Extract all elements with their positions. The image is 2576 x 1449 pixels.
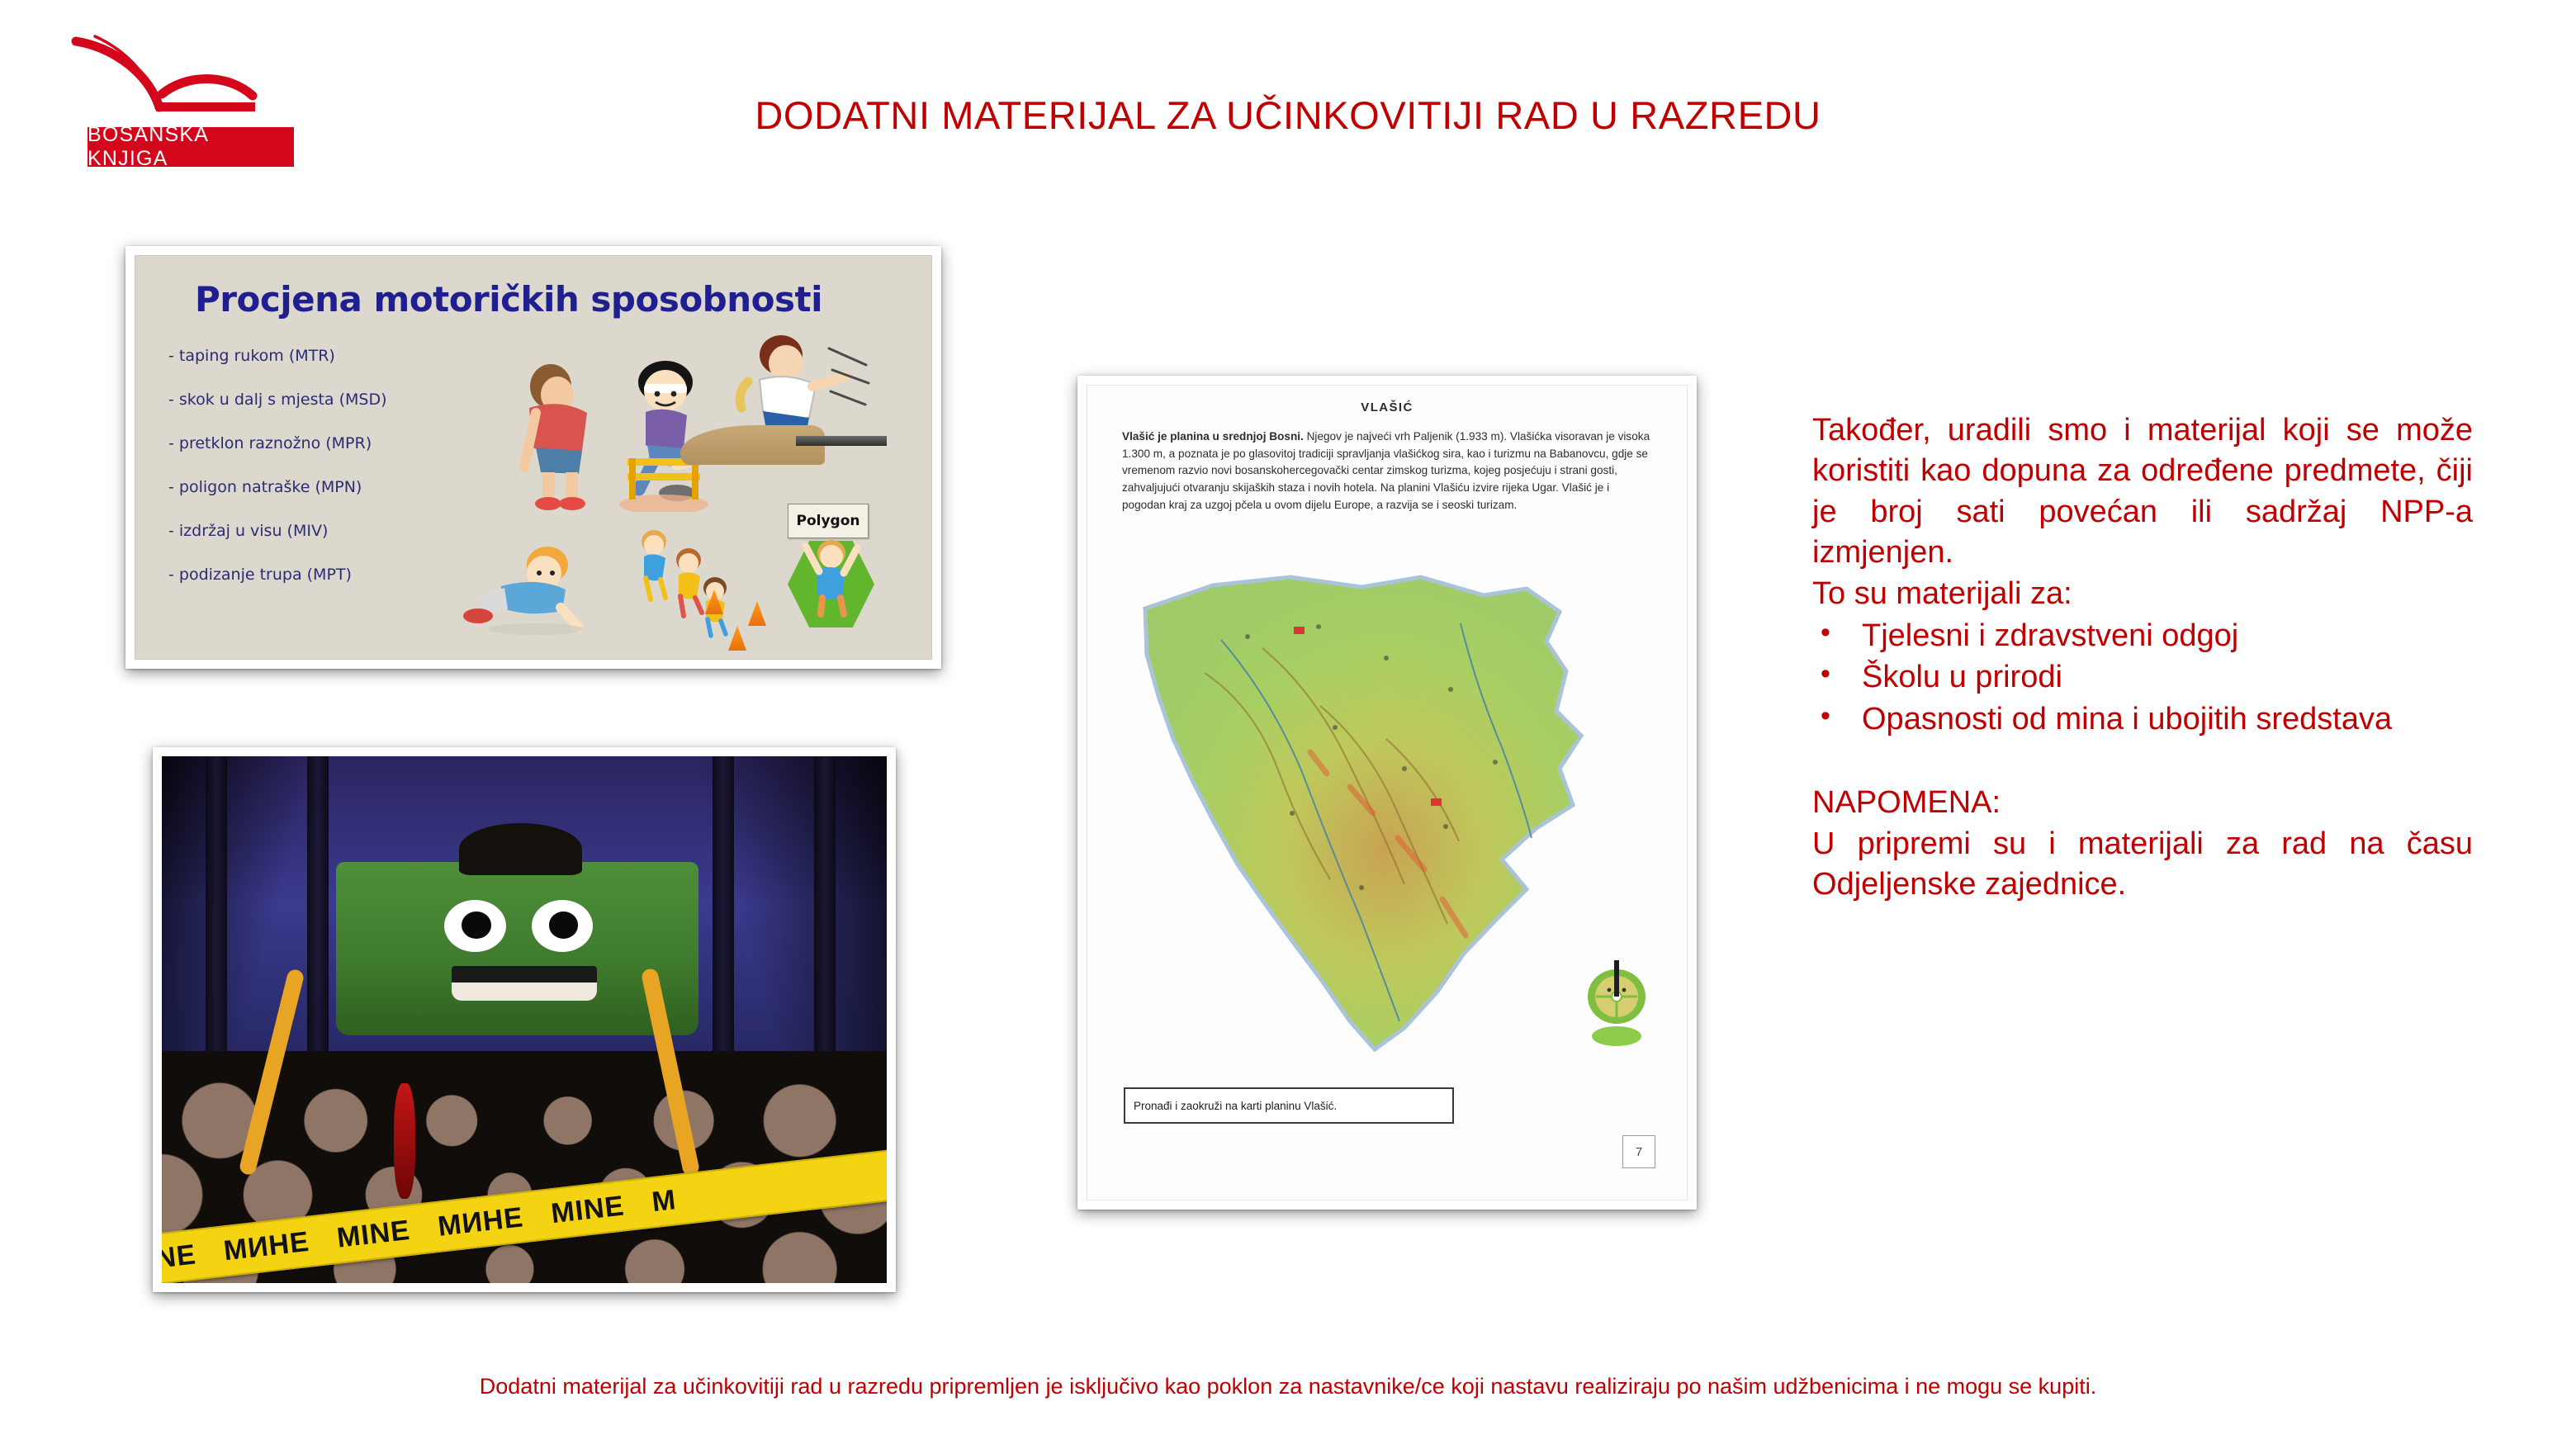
intro-paragraph: Također, uradili smo i materijal koji se… [1812,410,2473,574]
materials-bullet-list: Tjelesni i zdravstveni odgoj Školu u pri… [1812,616,2473,740]
list-item: - pretklon raznožno (MPR) [168,434,515,452]
tree-trunk-graphic [814,756,836,1083]
note-block: NAPOMENA: U pripremi su i materijali za … [1812,783,2473,905]
tape-label: MINE [549,1190,626,1230]
blood-streak-graphic [394,1083,415,1199]
intro-lead: To su materijali za: [1812,574,2473,614]
worksheet-page: VLAŠIĆ Vlašić je planina u srednjoj Bosn… [1087,385,1688,1200]
puppet-eye-right [532,900,594,952]
puppet-eye-left [444,900,506,952]
bosnia-herzegovina-relief-map [1114,566,1609,1061]
worksheet-task-box: Pronađi i zaokruži na karti planinu Vlaš… [1124,1087,1454,1124]
note-text: U pripremi su i materijali za rad na čas… [1812,824,2473,906]
tape-label: МИНЕ [222,1225,311,1267]
motor-skills-picture: Procjena motoričkih sposobnosti - taping… [125,246,941,669]
turtle-mascot [1579,960,1654,1051]
list-item: Opasnosti od mina i ubojitih sredstava [1812,699,2473,740]
puppet-mouth [452,966,597,1001]
worksheet-paragraph: Vlašić je planina u srednjoj Bosni. Njeg… [1122,429,1650,514]
child-hurdle-figure [606,343,722,512]
company-logo: BOSANSKA KNJIGA [50,26,297,167]
open-book-icon [50,26,297,121]
child-forward-bend-figure [511,362,610,510]
logo-nameplate: BOSANSKA KNJIGA [88,127,294,167]
mine-photo-content: INE МИНЕ MINE МИНЕ MINE M [162,756,887,1283]
tape-label: INE [162,1238,197,1276]
vlasic-worksheet-picture: VLAŠIĆ Vlašić je planina u srednjoj Bosn… [1077,376,1697,1210]
tape-label: M [650,1184,678,1219]
polygon-sign-label: Polygon [788,504,869,538]
list-item: - taping rukom (MTR) [168,347,515,365]
page-title: DODATNI MATERIJAL ZA UČINKOVITIJI RAD U … [578,92,1998,138]
list-item: - poligon natraške (MPN) [168,478,515,496]
child-holding-sign-figure [794,528,869,619]
motor-skills-title: Procjena motoričkih sposobnosti [195,279,822,320]
tape-label: МИНЕ [436,1201,525,1243]
note-heading: NAPOMENA: [1812,783,2473,823]
tree-trunk-graphic [713,756,734,1083]
worksheet-heading: VLAŠIĆ [1087,400,1687,414]
logo-text: BOSANSKA KNJIGA [88,123,294,171]
tape-label: MINE [335,1214,412,1254]
list-item: Školu u prirodi [1812,657,2473,698]
child-pushup-figure [462,547,598,637]
puppet-monster-figure [336,862,698,1036]
puppet-hair [459,823,582,875]
worksheet-page-number: 7 [1622,1135,1655,1168]
list-item: - skok u dalj s mjesta (MSD) [168,391,515,409]
list-item: Tjelesni i zdravstveni odgoj [1812,616,2473,656]
list-item: - izdržaj u visu (MIV) [168,522,515,540]
tree-trunk-graphic [307,756,329,1083]
tree-trunk-graphic [206,756,227,1083]
mine-awareness-photo: INE МИНЕ MINE МИНЕ MINE M [153,747,896,1292]
motor-skills-slide-content: Procjena motoričkih sposobnosti - taping… [135,255,932,660]
sandpit-rail-graphic [796,436,887,446]
body-text-column: Također, uradili smo i materijal koji se… [1812,410,2473,905]
footer-disclaimer: Dodatni materijal za učinkovitiji rad u … [0,1374,2576,1399]
worksheet-paragraph-lead: Vlašić je planina u srednjoj Bosni. [1122,430,1304,443]
